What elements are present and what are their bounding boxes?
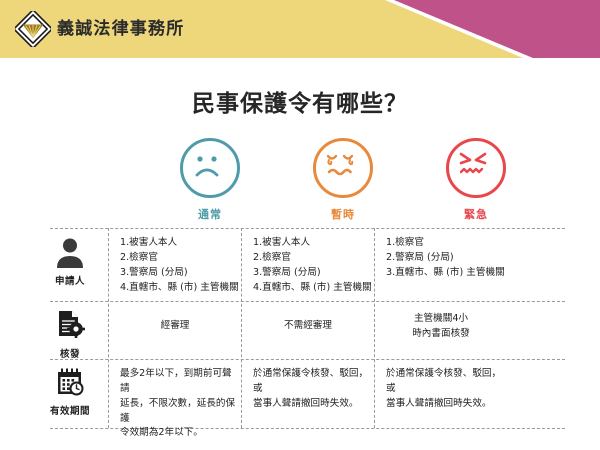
row-header-validity: 有效期間 (40, 366, 100, 417)
cell-validity-normal: 最多2年以下，到期前可聲請 延長，不限次數，延長的保護 令效期為2年以下。 (120, 367, 238, 441)
cell-validity-temporary: 於通常保護令核發、駁回，或 當事人聲請撤回時失效。 (253, 367, 371, 412)
column-label-emergency: 緊急 (414, 206, 538, 222)
row-label-validity: 有效期間 (40, 403, 100, 417)
row-header-applicant: 申請人 (40, 236, 100, 287)
fan-diamond-logo-icon (15, 11, 51, 47)
cell-applicant-normal: 1.被害人本人 2.檢察官 3.警察局 (分局) 4.直轄市、縣 (市) 主管機… (120, 236, 235, 295)
calendar-clock-icon (40, 366, 100, 400)
comparison-table: 申請人 1.被害人本人 2.檢察官 3.警察局 (分局) 4.直轄市、縣 (市)… (0, 228, 600, 433)
firm-name: 義誠法律事務所 (57, 14, 184, 39)
column-header-temporary: 暫時 (281, 138, 405, 222)
row-label-issuance: 核發 (40, 346, 100, 360)
document-gear-icon (40, 309, 100, 343)
table-row: 申請人 1.被害人本人 2.檢察官 3.警察局 (分局) 4.直轄市、縣 (市)… (0, 228, 600, 301)
column-label-temporary: 暫時 (281, 206, 405, 222)
angry-face-icon (446, 138, 506, 198)
cell-issuance-temporary: 不需經審理 (243, 319, 373, 334)
cell-applicant-emergency: 1.檢察官 2.警察局 (分局) 3.直轄市、縣 (市) 主管機關 (386, 236, 501, 281)
row-header-issuance: 核發 (40, 309, 100, 360)
page-title: 民事保護令有哪些？ (0, 84, 600, 118)
sad-face-icon (180, 138, 240, 198)
cell-applicant-temporary: 1.被害人本人 2.檢察官 3.警察局 (分局) 4.直轄市、縣 (市) 主管機… (253, 236, 368, 295)
column-label-normal: 通常 (148, 206, 272, 222)
table-row: 核發 經審理 不需經審理 主管機關4小 時內書面核發 (0, 301, 600, 359)
row-label-applicant: 申請人 (40, 273, 100, 287)
cell-issuance-normal: 經審理 (110, 319, 240, 334)
page-header: 義誠法律事務所 (0, 0, 600, 58)
cell-issuance-emergency: 主管機關4小 時內書面核發 (376, 312, 506, 342)
table-row: 有效期間 最多2年以下，到期前可聲請 延長，不限次數，延長的保護 令效期為2年以… (0, 359, 600, 428)
column-header-emergency: 緊急 (414, 138, 538, 222)
column-header-normal: 通常 (148, 138, 272, 222)
cell-validity-emergency: 於通常保護令核發、駁回，或 當事人聲請撤回時失效。 (386, 367, 504, 412)
worried-crying-face-icon (313, 138, 373, 198)
person-icon (40, 236, 100, 270)
